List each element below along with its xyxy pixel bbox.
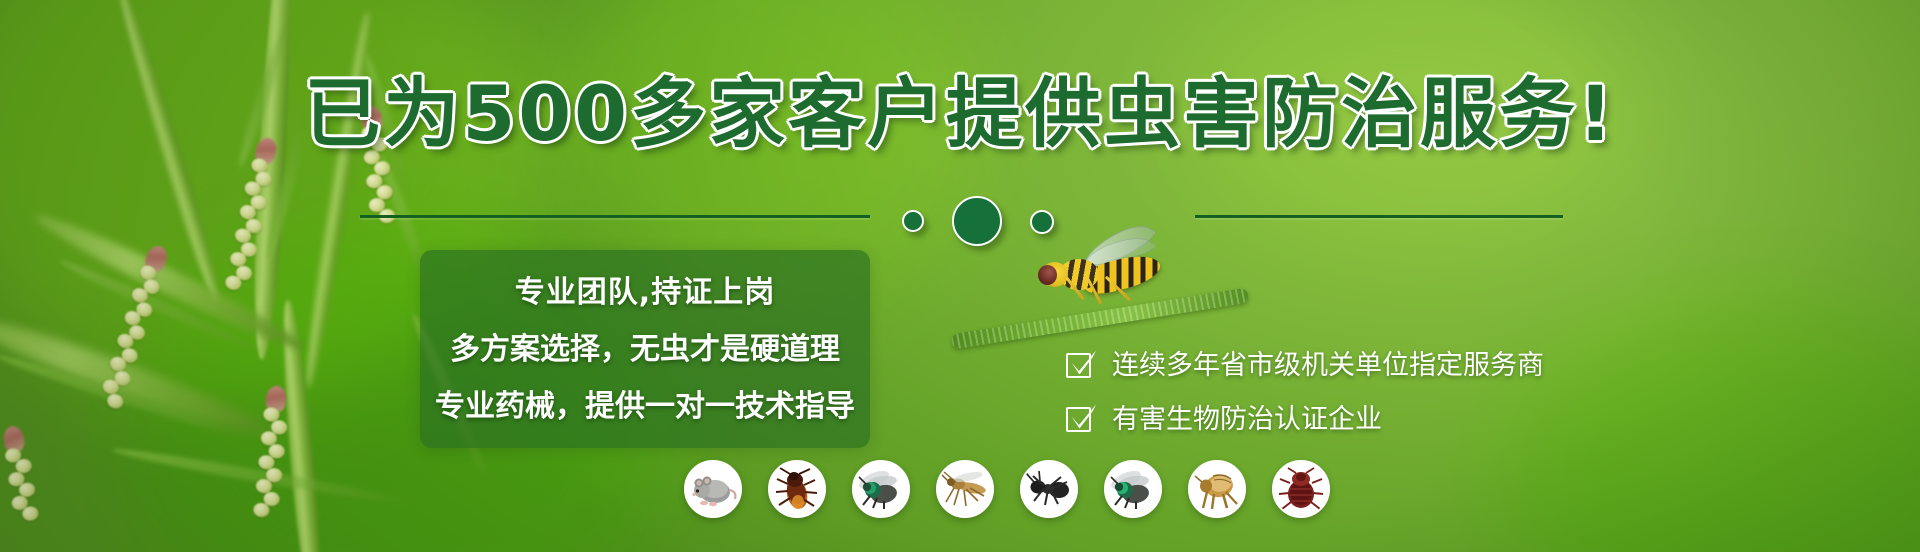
divider-dot-large [952,196,1002,246]
selling-point-2: 多方案选择，无虫才是硬道理 [420,308,870,365]
divider-dot-small-right [1030,210,1054,234]
pest-icon-rodent[interactable]: 鼠 [684,460,742,518]
checkmark-icon [1066,350,1096,380]
credential-label: 连续多年省市级机关单位指定服务商 [1112,352,1544,379]
pest-icon-flea[interactable]: 跳蚤 [1188,460,1246,518]
pest-species-row: 鼠 蟑螂 [684,460,1330,518]
pest-icon-blowfly[interactable]: 绿头蝇 [1104,460,1162,518]
pest-icon-bedbug[interactable]: 臭虫 [1272,460,1330,518]
decorative-divider [0,196,1920,236]
checkmark-icon [1066,404,1096,434]
selling-point-3: 专业药械，提供一对一技术指导 [420,365,870,422]
pest-icon-cockroach[interactable]: 蟑螂 [768,460,826,518]
divider-rule-right [1195,215,1563,218]
divider-rule-left [360,215,870,218]
credentials-list: 连续多年省市级机关单位指定服务商 有害生物防治认证企业 [1066,338,1766,446]
list-item: 有害生物防治认证企业 [1066,392,1766,446]
pest-icon-ant[interactable]: 蚂蚁 [1020,460,1078,518]
credential-label: 有害生物防治认证企业 [1112,406,1382,433]
banner-headline: 已为500多家客户提供虫害防治服务! [0,76,1920,152]
pest-control-hero-banner: 已为500多家客户提供虫害防治服务! 专业团队,持证上岗 多方案选择，无虫才是硬… [0,0,1920,552]
pest-icon-housefly[interactable]: 苍蝇 [852,460,910,518]
hoverfly-icon [1035,235,1163,311]
selling-point-1: 专业团队,持证上岗 [420,264,870,308]
list-item: 连续多年省市级机关单位指定服务商 [1066,338,1766,392]
pest-icon-mosquito[interactable]: 蚊 [936,460,994,518]
selling-points-panel: 专业团队,持证上岗 多方案选择，无虫才是硬道理 专业药械，提供一对一技术指导 [420,250,870,448]
divider-dot-small-left [902,210,924,232]
